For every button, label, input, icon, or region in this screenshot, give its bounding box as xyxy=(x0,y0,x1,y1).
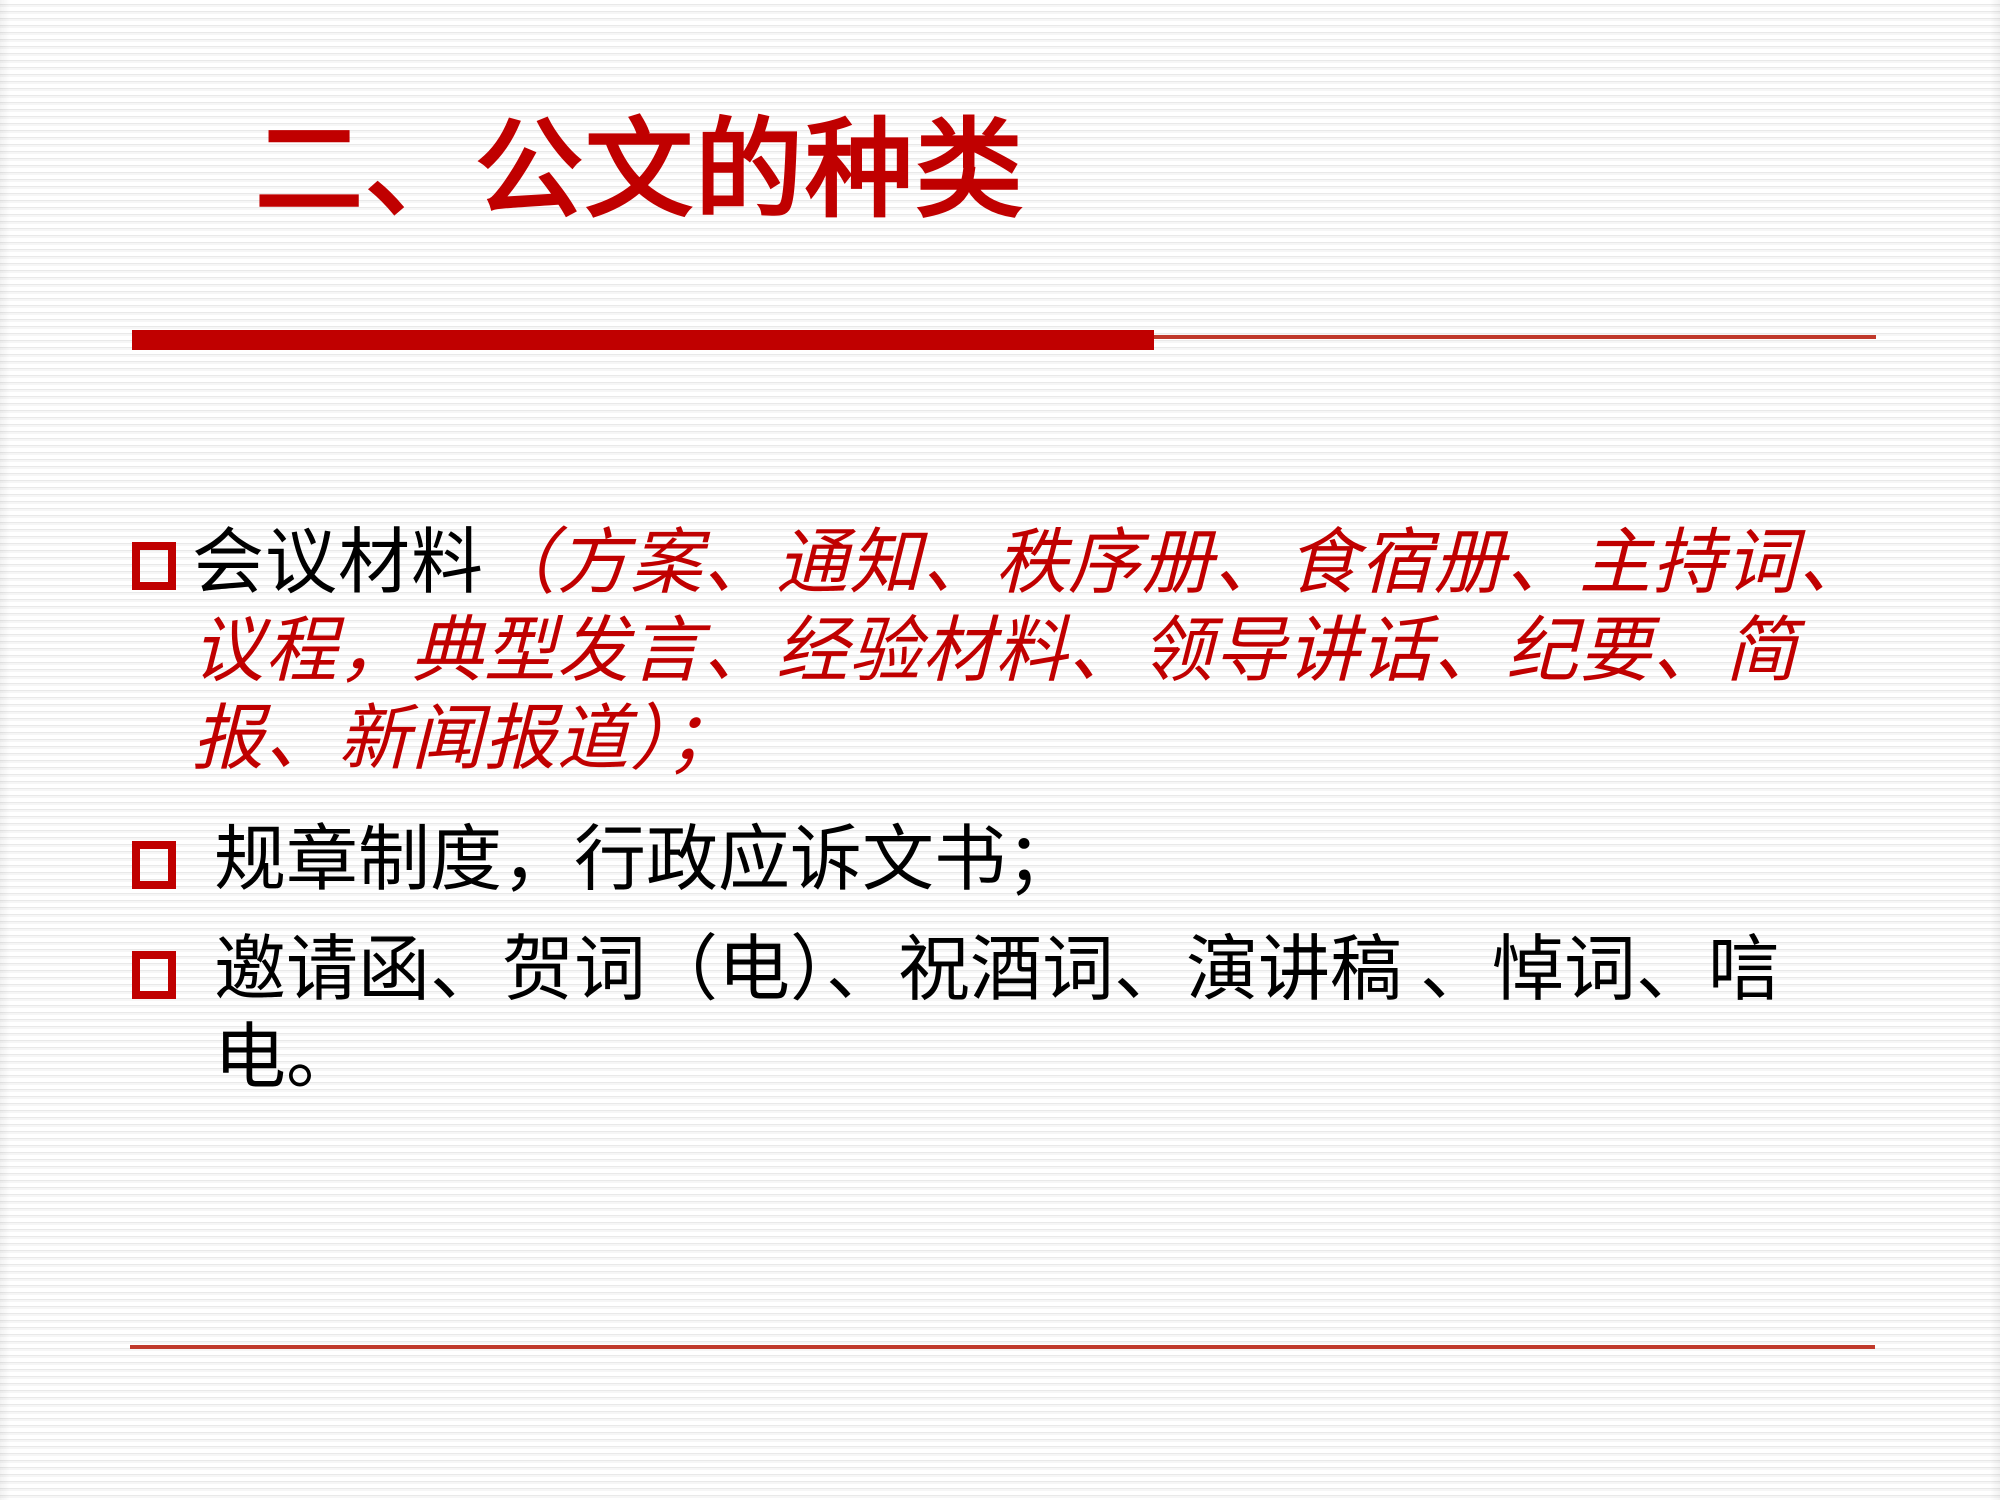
title-underline-thick-bar xyxy=(132,330,1154,350)
square-outline-bullet-icon xyxy=(132,951,176,999)
list-item: 会议材料（方案、通知、秩序册、食宿册、主持词、议程，典型发言、经验材料、领导讲话… xyxy=(132,520,1922,783)
slide-title: 二、公文的种类 xyxy=(255,110,1025,231)
page-edge-right-shadow xyxy=(1990,0,2000,1500)
bullet-list: 会议材料（方案、通知、秩序册、食宿册、主持词、议程，典型发言、经验材料、领导讲话… xyxy=(132,520,1922,1109)
slide-canvas: 二、公文的种类 会议材料（方案、通知、秩序册、食宿册、主持词、议程，典型发言、经… xyxy=(0,0,2000,1500)
bullet-item-1-text: 会议材料（方案、通知、秩序册、食宿册、主持词、议程，典型发言、经验材料、领导讲话… xyxy=(192,520,1922,783)
title-underline-thin-line xyxy=(1154,335,1876,339)
footer-divider-line xyxy=(130,1345,1875,1349)
bullet-item-1-lead: 会议材料 xyxy=(192,523,484,603)
bullet-item-2-text: 规章制度，行政应诉文书； xyxy=(192,817,1922,905)
list-item: 邀请函、贺词（电）、祝酒词、演讲稿 、悼词、唁电。 xyxy=(132,927,1922,1103)
page-edge-left-shadow xyxy=(0,0,10,1500)
square-outline-bullet-icon xyxy=(132,841,176,889)
list-item: 规章制度，行政应诉文书； xyxy=(132,817,1922,905)
bullet-item-3-text: 邀请函、贺词（电）、祝酒词、演讲稿 、悼词、唁电。 xyxy=(192,927,1922,1103)
square-outline-bullet-icon xyxy=(132,542,176,590)
